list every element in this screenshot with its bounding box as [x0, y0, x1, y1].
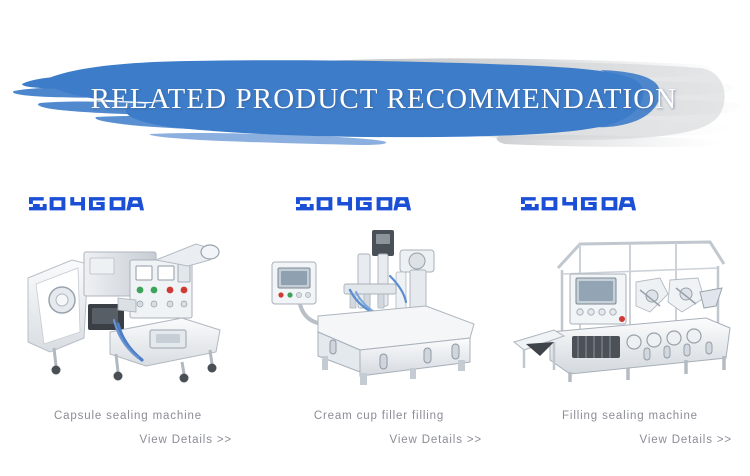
filling-sealing-machine-photo: [510, 220, 740, 388]
product-caption: Filling sealing machine: [500, 410, 750, 422]
banner: RELATED PRODUCT RECOMMENDATION: [0, 48, 750, 150]
capsule-sealing-machine-photo: [10, 220, 240, 388]
view-details-link[interactable]: View Details >>: [8, 434, 258, 446]
banner-brushstroke-icon: [0, 48, 750, 150]
cream-cup-filler-photo: [260, 220, 490, 388]
joygoal-logo-icon: [520, 192, 638, 216]
product-card[interactable]: Filling sealing machine View Details >>: [500, 172, 750, 462]
view-details-link[interactable]: View Details >>: [508, 434, 750, 446]
joygoal-logo-icon: [295, 192, 413, 216]
page-root: RELATED PRODUCT RECOMMENDATION: [0, 0, 750, 476]
product-caption: Cream cup filler filling: [250, 410, 500, 422]
product-caption: Capsule sealing machine: [0, 410, 250, 422]
product-card[interactable]: Cream cup filler filling View Details >>: [250, 172, 500, 462]
joygoal-logo-icon: [28, 192, 146, 216]
product-list: Capsule sealing machine View Details >>: [0, 172, 750, 462]
product-card[interactable]: Capsule sealing machine View Details >>: [0, 172, 250, 462]
view-details-link[interactable]: View Details >>: [258, 434, 508, 446]
